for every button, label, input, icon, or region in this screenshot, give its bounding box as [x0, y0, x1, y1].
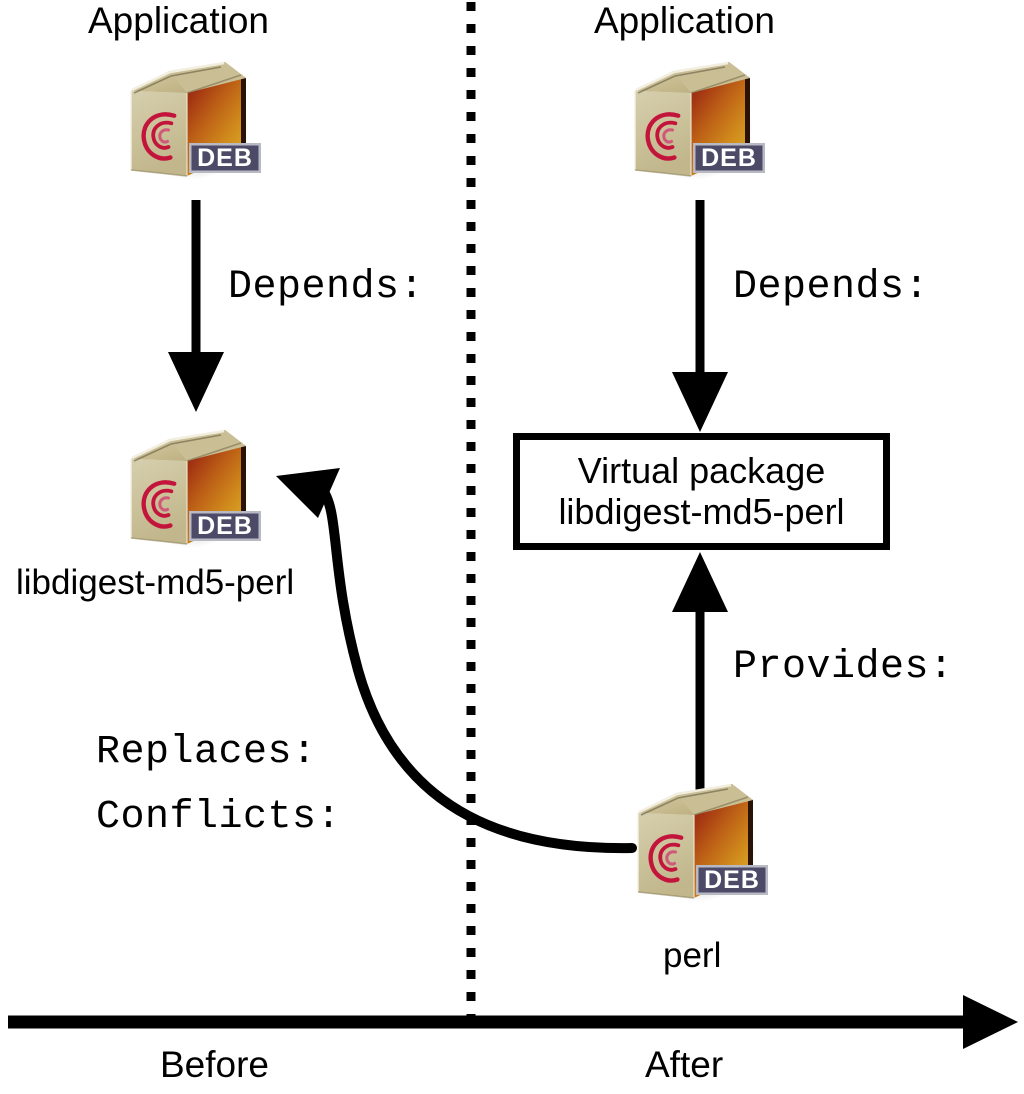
perl-package-icon: [620, 780, 774, 914]
before-depends-label: Depends:: [228, 265, 424, 310]
libdigest-md5-perl-package-icon: [113, 426, 267, 560]
after-depends-label: Depends:: [733, 265, 929, 310]
timeline-after-label: After: [645, 1046, 723, 1085]
perl-label: perl: [663, 938, 721, 975]
before-depends-arrow: [168, 200, 224, 412]
replaces-label: Replaces:: [96, 730, 317, 775]
diagram-canvas: DEB: [0, 0, 1024, 1094]
after-application-label: Application: [594, 2, 775, 41]
libdigest-md5-perl-label: libdigest-md5-perl: [16, 565, 294, 602]
virtual-package-box: Virtual package libdigest-md5-perl: [513, 433, 890, 550]
after-depends-arrow: [672, 200, 728, 432]
virtual-package-line1: Virtual package: [578, 451, 826, 491]
virtual-package-line2: libdigest-md5-perl: [558, 492, 844, 532]
timeline-axis: [8, 995, 1018, 1049]
before-application-label: Application: [88, 2, 269, 41]
timeline-before-label: Before: [160, 1046, 269, 1085]
provides-label: Provides:: [733, 645, 954, 690]
before-application-package-icon: [113, 58, 267, 192]
conflicts-label: Conflicts:: [96, 795, 341, 840]
provides-arrow: [672, 552, 728, 800]
after-application-package-icon: [617, 58, 771, 192]
